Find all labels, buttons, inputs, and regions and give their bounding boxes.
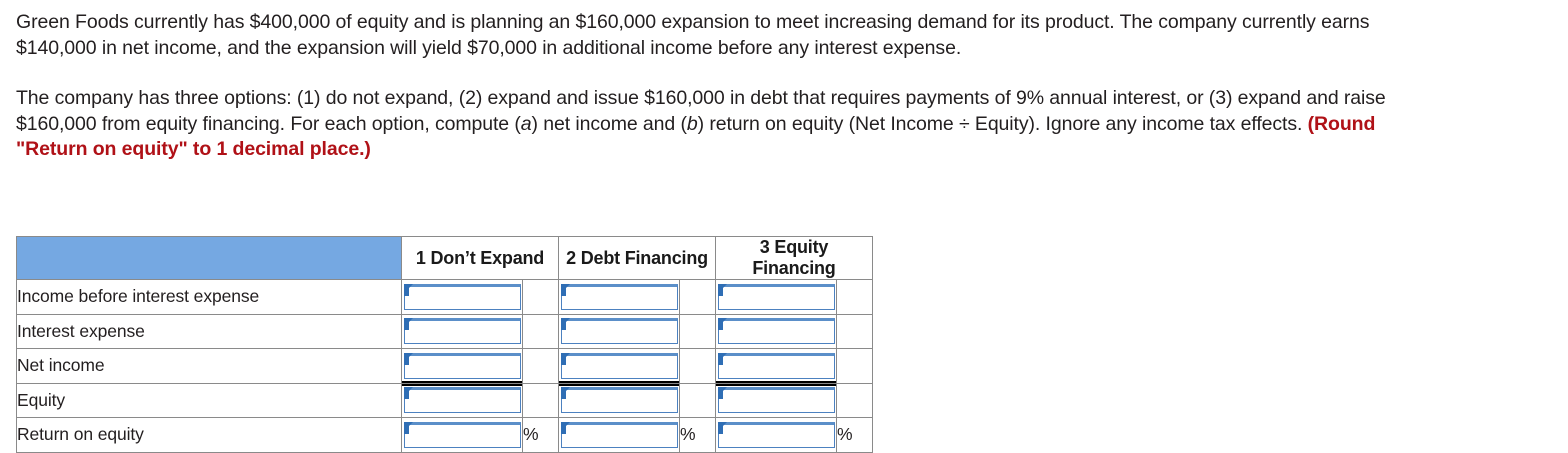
suffix-interest-expense-equity-financing xyxy=(837,314,873,349)
cell-net-income-equity-financing[interactable] xyxy=(716,349,837,384)
input-interest-expense-debt-financing[interactable] xyxy=(561,318,678,344)
variable-b: b xyxy=(687,113,698,135)
row-label-income-before-interest-expense: Income before interest expense xyxy=(17,280,402,315)
entry-flag-icon xyxy=(561,318,570,327)
cell-net-income-debt-financing[interactable] xyxy=(559,349,680,384)
header-dont-expand: 1 Don’t Expand xyxy=(402,237,559,280)
table-header-row: 1 Don’t Expand 2 Debt Financing 3 Equity… xyxy=(17,237,873,280)
input-return-on-equity-debt-financing[interactable] xyxy=(561,422,678,448)
row-label-equity: Equity xyxy=(17,383,402,418)
table-header: 1 Don’t Expand 2 Debt Financing 3 Equity… xyxy=(17,237,873,280)
entry-flag-icon xyxy=(404,353,413,362)
entry-flag-icon xyxy=(718,353,727,362)
entry-flag-icon xyxy=(718,318,727,327)
answer-table-container: 1 Don’t Expand 2 Debt Financing 3 Equity… xyxy=(16,236,873,453)
input-equity-debt-financing[interactable] xyxy=(561,387,678,413)
cell-return-on-equity-dont-expand[interactable] xyxy=(402,418,523,453)
suffix-net-income-debt-financing xyxy=(680,349,716,384)
table-row: Return on equity % % % xyxy=(17,418,873,453)
entry-flag-icon xyxy=(718,284,727,293)
variable-a: a xyxy=(521,113,532,135)
table-row: Net income xyxy=(17,349,873,384)
paragraph2-tail: ) return on equity (Net Income ÷ Equity)… xyxy=(698,113,1308,135)
cell-equity-debt-financing[interactable] xyxy=(559,383,680,418)
row-label-interest-expense: Interest expense xyxy=(17,314,402,349)
cell-net-income-dont-expand[interactable] xyxy=(402,349,523,384)
input-equity-equity-financing[interactable] xyxy=(718,387,835,413)
suffix-income-before-interest-equity-financing xyxy=(837,280,873,315)
header-debt-financing: 2 Debt Financing xyxy=(559,237,716,280)
input-net-income-equity-financing[interactable] xyxy=(718,353,835,379)
entry-flag-icon xyxy=(718,422,727,431)
entry-flag-icon xyxy=(561,422,570,431)
cell-equity-dont-expand[interactable] xyxy=(402,383,523,418)
table-row: Income before interest expense xyxy=(17,280,873,315)
cell-interest-expense-debt-financing[interactable] xyxy=(559,314,680,349)
entry-flag-icon xyxy=(561,387,570,396)
problem-statement: Green Foods currently has $400,000 of eq… xyxy=(16,10,1436,163)
percent-sign-equity-financing: % xyxy=(837,418,873,453)
header-equity-financing: 3 Equity Financing xyxy=(716,237,873,280)
row-label-return-on-equity: Return on equity xyxy=(17,418,402,453)
input-income-before-interest-debt-financing[interactable] xyxy=(561,284,678,310)
input-net-income-dont-expand[interactable] xyxy=(404,353,521,379)
suffix-net-income-equity-financing xyxy=(837,349,873,384)
answer-table: 1 Don’t Expand 2 Debt Financing 3 Equity… xyxy=(16,236,873,453)
entry-flag-icon xyxy=(718,387,727,396)
cell-interest-expense-equity-financing[interactable] xyxy=(716,314,837,349)
cell-income-before-interest-debt-financing[interactable] xyxy=(559,280,680,315)
suffix-equity-dont-expand xyxy=(523,383,559,418)
entry-flag-icon xyxy=(404,318,413,327)
cell-income-before-interest-dont-expand[interactable] xyxy=(402,280,523,315)
suffix-net-income-dont-expand xyxy=(523,349,559,384)
suffix-income-before-interest-dont-expand xyxy=(523,280,559,315)
suffix-interest-expense-dont-expand xyxy=(523,314,559,349)
paragraph2-mid: ) net income and ( xyxy=(532,113,687,135)
input-interest-expense-equity-financing[interactable] xyxy=(718,318,835,344)
input-net-income-debt-financing[interactable] xyxy=(561,353,678,379)
problem-paragraph-2: The company has three options: (1) do no… xyxy=(16,86,1436,163)
entry-flag-icon xyxy=(561,353,570,362)
cell-equity-equity-financing[interactable] xyxy=(716,383,837,418)
cell-return-on-equity-equity-financing[interactable] xyxy=(716,418,837,453)
cell-return-on-equity-debt-financing[interactable] xyxy=(559,418,680,453)
entry-flag-icon xyxy=(404,422,413,431)
input-income-before-interest-dont-expand[interactable] xyxy=(404,284,521,310)
question-page: Green Foods currently has $400,000 of eq… xyxy=(0,0,1568,453)
suffix-interest-expense-debt-financing xyxy=(680,314,716,349)
entry-flag-icon xyxy=(404,284,413,293)
problem-paragraph-1: Green Foods currently has $400,000 of eq… xyxy=(16,10,1436,61)
suffix-income-before-interest-debt-financing xyxy=(680,280,716,315)
entry-flag-icon xyxy=(404,387,413,396)
table-body: Income before interest expense In xyxy=(17,280,873,453)
cell-interest-expense-dont-expand[interactable] xyxy=(402,314,523,349)
cell-income-before-interest-equity-financing[interactable] xyxy=(716,280,837,315)
input-interest-expense-dont-expand[interactable] xyxy=(404,318,521,344)
input-income-before-interest-equity-financing[interactable] xyxy=(718,284,835,310)
input-return-on-equity-dont-expand[interactable] xyxy=(404,422,521,448)
input-equity-dont-expand[interactable] xyxy=(404,387,521,413)
table-row: Equity xyxy=(17,383,873,418)
suffix-equity-debt-financing xyxy=(680,383,716,418)
table-row: Interest expense xyxy=(17,314,873,349)
percent-sign-dont-expand: % xyxy=(523,418,559,453)
suffix-equity-equity-financing xyxy=(837,383,873,418)
percent-sign-debt-financing: % xyxy=(680,418,716,453)
input-return-on-equity-equity-financing[interactable] xyxy=(718,422,835,448)
row-label-net-income: Net income xyxy=(17,349,402,384)
header-corner-cell xyxy=(17,237,402,280)
entry-flag-icon xyxy=(561,284,570,293)
